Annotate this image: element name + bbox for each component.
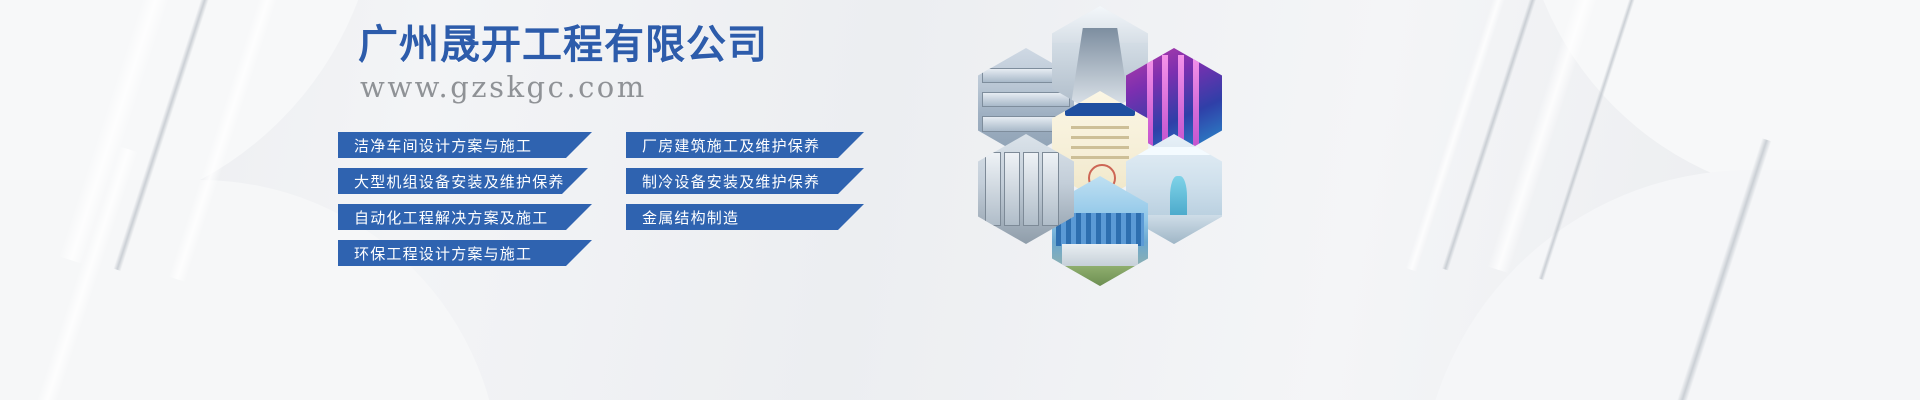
- service-tag-automation-engineering[interactable]: 自动化工程解决方案及施工: [338, 204, 592, 230]
- service-tag-label: 洁净车间设计方案与施工: [354, 135, 532, 156]
- service-tag-refrigeration-installation[interactable]: 制冷设备安装及维护保养: [626, 168, 864, 194]
- service-tag-environmental-engineering[interactable]: 环保工程设计方案与施工: [338, 240, 592, 266]
- service-tag-cleanroom-design[interactable]: 洁净车间设计方案与施工: [338, 132, 592, 158]
- service-tag-label: 制冷设备安装及维护保养: [642, 171, 820, 192]
- service-tag-metal-fabrication[interactable]: 金属结构制造: [626, 204, 864, 230]
- headline-block: 广州晟开工程有限公司 www.gzskgc.com: [356, 22, 876, 110]
- service-tag-column-left: 洁净车间设计方案与施工 大型机组设备安装及维护保养 自动化工程解决方案及施工 环…: [338, 132, 592, 276]
- company-banner: 广州晟开工程有限公司 www.gzskgc.com 洁净车间设计方案与施工 大型…: [0, 0, 1920, 400]
- project-photo-cluster: [940, 0, 1270, 306]
- service-tag-column-right: 厂房建筑施工及维护保养 制冷设备安装及维护保养 金属结构制造: [626, 132, 864, 240]
- website-url: www.gzskgc.com: [360, 70, 876, 104]
- service-tag-label: 自动化工程解决方案及施工: [354, 207, 548, 228]
- service-tag-label: 环保工程设计方案与施工: [354, 243, 532, 264]
- service-tag-label: 金属结构制造: [642, 207, 739, 228]
- service-tag-large-unit-installation[interactable]: 大型机组设备安装及维护保养: [338, 168, 588, 194]
- service-tag-group: 洁净车间设计方案与施工 大型机组设备安装及维护保养 自动化工程解决方案及施工 环…: [338, 132, 878, 282]
- company-name: 广州晟开工程有限公司: [358, 22, 876, 68]
- service-tag-factory-construction[interactable]: 厂房建筑施工及维护保养: [626, 132, 864, 158]
- service-tag-label: 厂房建筑施工及维护保养: [642, 135, 820, 156]
- service-tag-label: 大型机组设备安装及维护保养: [354, 171, 565, 192]
